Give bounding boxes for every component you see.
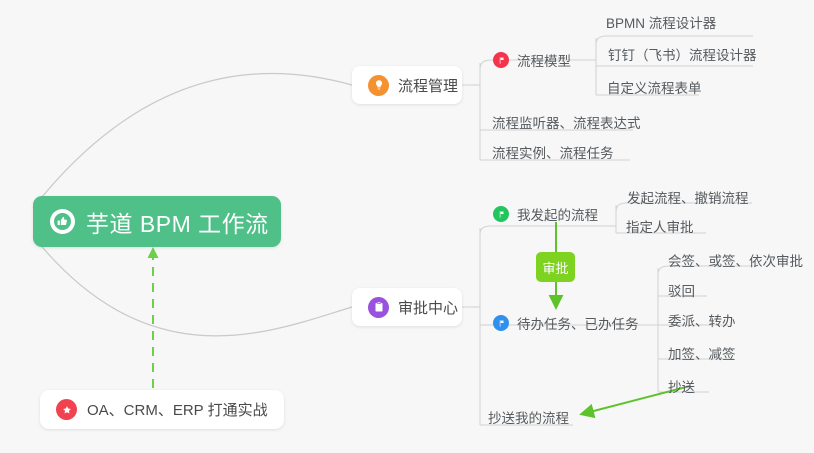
branch-approval-center-label: 审批中心 (398, 297, 458, 318)
leaf-label: 流程监听器、流程表达式 (492, 112, 641, 132)
branch-flow-management-label: 流程管理 (398, 75, 458, 96)
leaf-reject[interactable]: 驳回 (668, 280, 695, 300)
leaf-custom-flow-form[interactable]: 自定义流程表单 (607, 77, 702, 97)
leaf-label: 抄送 (668, 376, 695, 396)
leaf-my-started-flows[interactable]: 我发起的流程 (493, 204, 598, 224)
leaf-countersign-orsign-sequential[interactable]: 会签、或签、依次审批 (668, 250, 803, 270)
leaf-todo-done-tasks[interactable]: 待办任务、已办任务 (493, 313, 639, 333)
leaf-label: 流程实例、流程任务 (492, 142, 614, 162)
leaf-label: 驳回 (668, 280, 695, 300)
approval-badge: 审批 (536, 252, 575, 282)
flag-icon (493, 206, 509, 222)
leaf-cc[interactable]: 抄送 (668, 376, 695, 396)
leaf-label: 会签、或签、依次审批 (668, 250, 803, 270)
branch-approval-center[interactable]: 审批中心 (352, 288, 462, 326)
root-label: 芋道 BPM 工作流 (86, 205, 269, 239)
leaf-flow-listener-expression[interactable]: 流程监听器、流程表达式 (492, 112, 641, 132)
callout-label: OA、CRM、ERP 打通实战 (87, 399, 268, 420)
leaf-label: 指定人审批 (626, 216, 694, 236)
lightbulb-icon (368, 75, 389, 96)
leaf-label: 待办任务、已办任务 (517, 313, 639, 333)
thumbs-up-icon (50, 209, 75, 234)
leaf-label: 发起流程、撤销流程 (627, 187, 749, 207)
leaf-label: 自定义流程表单 (607, 77, 702, 97)
leaf-bpmn-designer[interactable]: BPMN 流程设计器 (606, 12, 716, 32)
clipboard-icon (368, 297, 389, 318)
mindmap-canvas: 芋道 BPM 工作流 流程管理 流程模型 流程监听器、流程表达式 流程实例、流程… (0, 0, 814, 453)
leaf-assignee-approval[interactable]: 指定人审批 (626, 216, 694, 236)
leaf-start-cancel-flow[interactable]: 发起流程、撤销流程 (627, 187, 749, 207)
leaf-label: 流程模型 (517, 50, 571, 70)
star-icon (56, 399, 77, 420)
flag-icon (493, 52, 509, 68)
leaf-label: 我发起的流程 (517, 204, 598, 224)
approval-badge-label: 审批 (542, 258, 568, 277)
leaf-label: 加签、减签 (668, 343, 736, 363)
leaf-label: 委派、转办 (668, 310, 736, 330)
callout-dashed-arrow (148, 247, 159, 388)
leaf-dingtalk-feishu-designer[interactable]: 钉钉（飞书）流程设计器 (608, 44, 757, 64)
flag-icon (493, 315, 509, 331)
leaf-flow-instance-task[interactable]: 流程实例、流程任务 (492, 142, 614, 162)
leaf-label: BPMN 流程设计器 (606, 12, 716, 32)
leaf-label: 抄送我的流程 (488, 407, 569, 427)
leaf-delegate-transfer[interactable]: 委派、转办 (668, 310, 736, 330)
root-node[interactable]: 芋道 BPM 工作流 (33, 196, 281, 247)
branch-flow-management[interactable]: 流程管理 (352, 66, 462, 104)
leaf-flow-model[interactable]: 流程模型 (493, 50, 571, 70)
callout-card[interactable]: OA、CRM、ERP 打通实战 (40, 390, 284, 429)
leaf-add-remove-sign[interactable]: 加签、减签 (668, 343, 736, 363)
leaf-label: 钉钉（飞书）流程设计器 (608, 44, 757, 64)
leaf-flows-cc-to-me[interactable]: 抄送我的流程 (488, 407, 569, 427)
